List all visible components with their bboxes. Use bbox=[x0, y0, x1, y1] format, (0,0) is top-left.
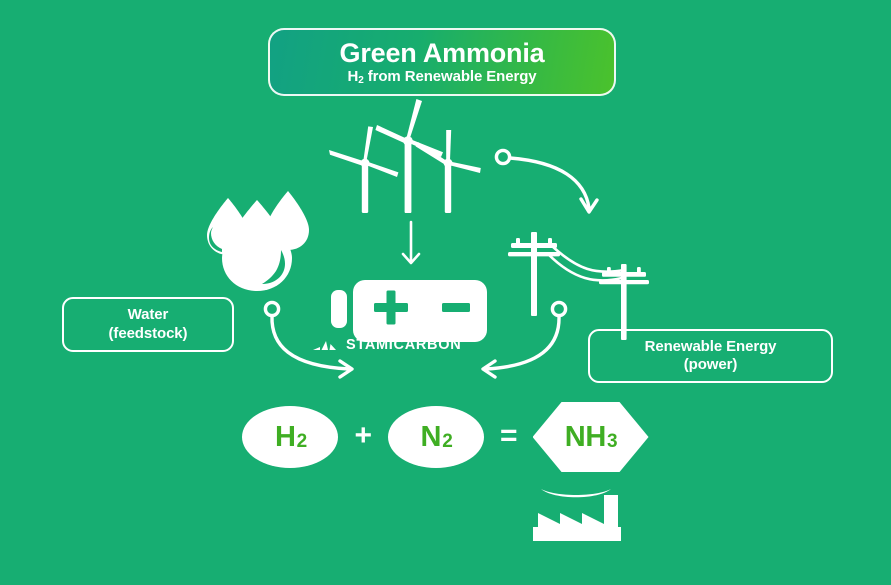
stamicarbon-label: STAMICARBON bbox=[346, 337, 461, 353]
chemical-formula-row: H2+N2=NH3 bbox=[0, 398, 891, 476]
nitrogen-molecule-formula: N bbox=[421, 421, 442, 454]
arrow-power-to-battery bbox=[483, 302, 566, 377]
arrow-down-icon bbox=[403, 222, 419, 263]
illustration-layer bbox=[0, 0, 891, 585]
plus-operator: + bbox=[354, 421, 372, 454]
factory-icon bbox=[533, 489, 621, 541]
stamicarbon-wordmark: STAMICARBON bbox=[313, 337, 461, 353]
hydrogen-molecule-subscript: 2 bbox=[297, 431, 307, 453]
ammonia-molecule: NH3 bbox=[533, 402, 649, 472]
power-line-icon bbox=[508, 232, 649, 340]
battery-icon bbox=[331, 280, 487, 342]
hydrogen-molecule: H2 bbox=[242, 406, 338, 468]
nitrogen-molecule-subscript: 2 bbox=[442, 431, 452, 453]
hydrogen-molecule-formula: H bbox=[275, 421, 296, 454]
infographic-canvas: Green Ammonia H2 from Renewable Energy W… bbox=[0, 0, 891, 585]
nitrogen-molecule: N2 bbox=[388, 406, 484, 468]
stamicarbon-logo-icon bbox=[313, 339, 339, 352]
wind-turbine-icon bbox=[329, 99, 481, 213]
arrow-turbines-to-grid bbox=[496, 150, 597, 212]
water-droplet-icon bbox=[207, 191, 309, 291]
ammonia-molecule-subscript: 3 bbox=[607, 431, 617, 453]
ammonia-molecule-formula: NH bbox=[565, 421, 606, 454]
equals-operator: = bbox=[500, 421, 517, 454]
